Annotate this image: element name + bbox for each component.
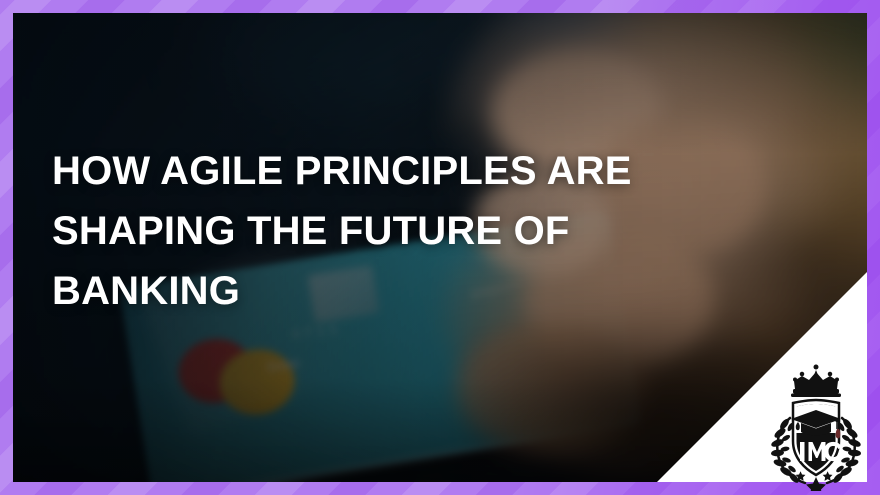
banner-photo: Debit 4 7 1 1 paypass HOW AGILE PRINCIPL… [13,13,867,482]
imc-logo [762,363,870,491]
banner-headline: HOW AGILE PRINCIPLES ARE SHAPING THE FUT… [52,141,672,321]
crown-icon [791,365,841,398]
blog-banner: Debit 4 7 1 1 paypass HOW AGILE PRINCIPL… [0,0,880,495]
